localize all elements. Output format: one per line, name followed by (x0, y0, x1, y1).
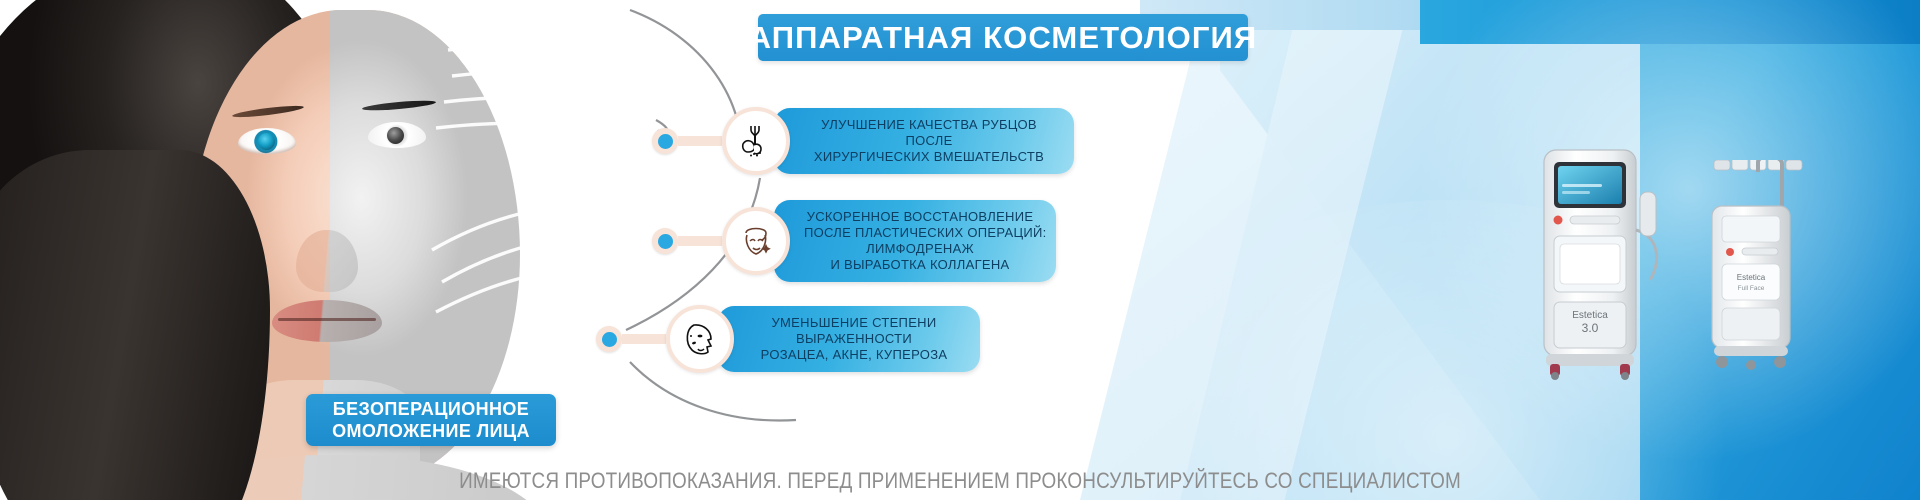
badge-line-2: ОМОЛОЖЕНИЕ ЛИЦА (332, 420, 530, 442)
laser-device-estetica-fullface: Estetica Full Face (1690, 160, 1820, 375)
callout-line: ПОСЛЕ ПЛАСТИЧЕСКИХ ОПЕРАЦИЙ: (804, 225, 1036, 241)
svg-text:Estetica: Estetica (1737, 273, 1766, 282)
face-mask-icon (722, 207, 790, 275)
eye-left (238, 128, 296, 154)
callout-text: УМЕНЬШЕНИЕ СТЕПЕНИ ВЫРАЖЕННОСТИ РОЗАЦЕА,… (718, 306, 980, 372)
svg-text:Estetica: Estetica (1572, 310, 1608, 321)
callout-line: РОЗАЦЕА, АКНЕ, КУПЕРОЗА (748, 347, 960, 363)
callout-line: ПОСЛЕ (804, 133, 1054, 149)
callout-dot (652, 228, 678, 254)
scar-treatment-icon (722, 107, 790, 175)
callout-line: УЛУЧШЕНИЕ КАЧЕСТВА РУБЦОВ (804, 117, 1054, 133)
badge-nonsurgical-rejuvenation: БЕЗОПЕРАЦИОННОЕ ОМОЛОЖЕНИЕ ЛИЦА (306, 394, 556, 446)
disclaimer-text: ИМЕЮТСЯ ПРОТИВОПОКАЗАНИЯ. ПЕРЕД ПРИМЕНЕН… (134, 468, 1785, 494)
callout-scar-quality[interactable]: УЛУЧШЕНИЕ КАЧЕСТВА РУБЦОВ ПОСЛЕ ХИРУРГИЧ… (652, 107, 1074, 175)
callout-dot (652, 128, 678, 154)
lips (272, 300, 382, 342)
callout-line: ВЫРАЖЕННОСТИ (748, 331, 960, 347)
banner-title-text: АППАРАТНАЯ КОСМЕТОЛОГИЯ (749, 20, 1258, 56)
svg-text:3.0: 3.0 (1582, 321, 1599, 335)
nose (296, 230, 358, 292)
banner-title: АППАРАТНАЯ КОСМЕТОЛОГИЯ (758, 14, 1248, 61)
callout-line: УМЕНЬШЕНИЕ СТЕПЕНИ (748, 315, 960, 331)
callout-rosacea-acne[interactable]: УМЕНЬШЕНИЕ СТЕПЕНИ ВЫРАЖЕННОСТИ РОЗАЦЕА,… (596, 305, 980, 373)
svg-text:Full Face: Full Face (1738, 285, 1765, 292)
badge-line-1: БЕЗОПЕРАЦИОННОЕ (333, 398, 529, 420)
callout-line: ХИРУРГИЧЕСКИХ ВМЕШАТЕЛЬСТВ (804, 149, 1054, 165)
callout-text: УЛУЧШЕНИЕ КАЧЕСТВА РУБЦОВ ПОСЛЕ ХИРУРГИЧ… (774, 108, 1074, 174)
callout-dot (596, 326, 622, 352)
face-profile-icon (666, 305, 734, 373)
callout-connector (678, 236, 722, 246)
hair-strand (0, 150, 270, 500)
cosmetology-banner: БЕЗОПЕРАЦИОННОЕ ОМОЛОЖЕНИЕ ЛИЦА (0, 0, 1920, 500)
callout-connector (622, 334, 666, 344)
callout-line: И ВЫРАБОТКА КОЛЛАГЕНА (804, 257, 1036, 273)
callout-line: ЛИМФОДРЕНАЖ (804, 241, 1036, 257)
callout-text: УСКОРЕННОЕ ВОССТАНОВЛЕНИЕ ПОСЛЕ ПЛАСТИЧЕ… (774, 200, 1056, 282)
callout-line: УСКОРЕННОЕ ВОССТАНОВЛЕНИЕ (804, 209, 1036, 225)
laser-device-estetica-3: Estetica 3.0 (1520, 140, 1680, 380)
eye-right (368, 122, 426, 148)
callout-faster-recovery[interactable]: УСКОРЕННОЕ ВОССТАНОВЛЕНИЕ ПОСЛЕ ПЛАСТИЧЕ… (652, 200, 1056, 282)
callout-connector (678, 136, 722, 146)
